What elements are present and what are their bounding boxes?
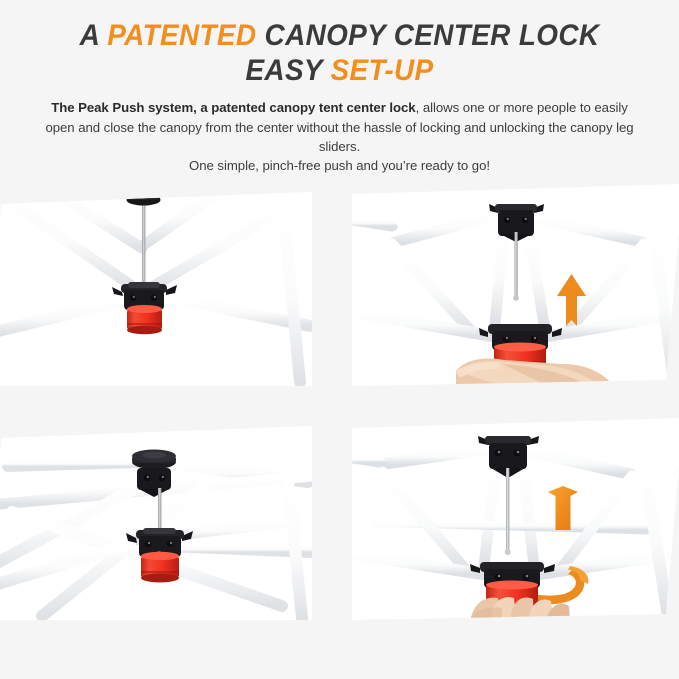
headline-line-2: EASY SET-UP — [44, 53, 635, 88]
headline-line-1: A PATENTED CANOPY CENTER LOCK — [44, 18, 635, 53]
headline-highlight-set-up: SET-UP — [331, 54, 434, 87]
hand-pushing-up-illustration — [352, 184, 679, 386]
header: A PATENTED CANOPY CENTER LOCK EASY SET-U… — [0, 0, 679, 176]
description-bold-lead: The Peak Push system, a patented canopy … — [51, 100, 415, 115]
panel-top-left: Canopy frame with center lock in lowered… — [0, 186, 312, 386]
headline-text-canopy-center-lock: CANOPY CENTER LOCK — [256, 19, 599, 52]
description-paragraph: The Peak Push system, a patented canopy … — [40, 98, 640, 176]
headline-text-easy: EASY — [245, 54, 330, 87]
canopy-frame-lowered-illustration — [0, 186, 312, 386]
top-knob — [127, 189, 161, 206]
panel-bottom-right-caption: Two hands pulling the red center lock do… — [352, 418, 353, 419]
headline-highlight-patented: PATENTED — [107, 19, 256, 52]
description-closing-line: One simple, pinch-free push and you’re r… — [189, 158, 490, 173]
center-lock-red-base — [127, 305, 162, 334]
panel-top-right: Hand pushing the red center lock upward … — [352, 184, 679, 386]
hands-pulling-down-illustration — [352, 418, 679, 620]
panel-top-right-caption: Hand pushing the red center lock upward … — [352, 184, 353, 185]
headline-text-a: A — [80, 19, 108, 52]
panel-bottom-left: Canopy frame fully opened, center lock s… — [0, 420, 312, 620]
product-image-grid: Canopy frame with center lock in lowered… — [0, 182, 679, 652]
canopy-frame-opened-illustration — [0, 420, 312, 620]
center-lock-red-base — [141, 552, 179, 583]
panel-bottom-right: Two hands pulling the red center lock do… — [352, 418, 679, 620]
